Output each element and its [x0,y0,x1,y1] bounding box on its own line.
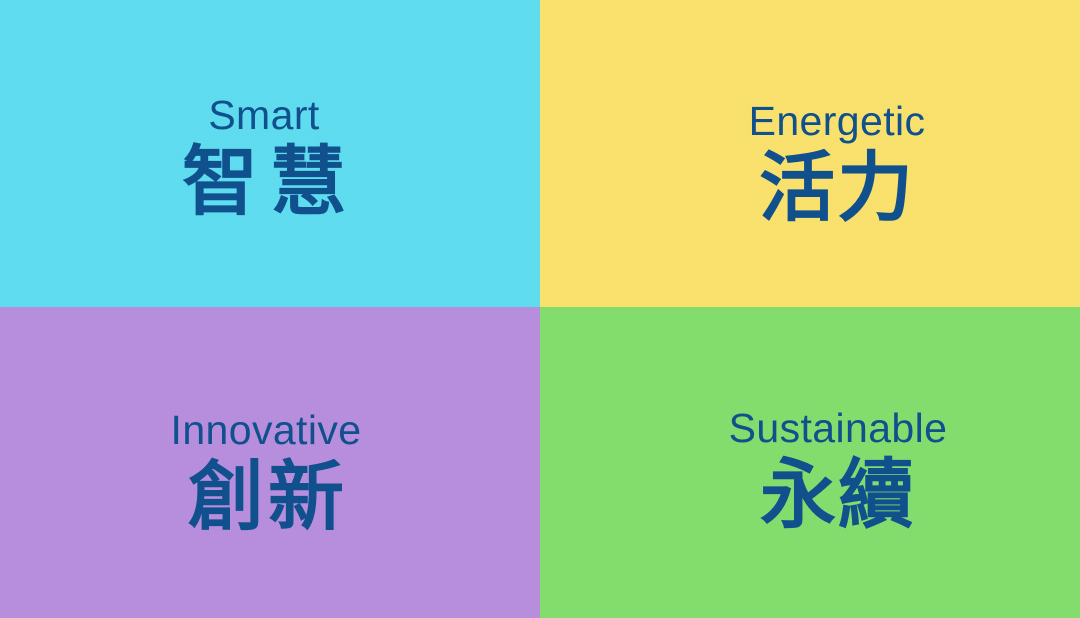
quadrant-smart-text: Smart 智慧 [0,94,534,224]
quadrant-sustainable-label-en: Sustainable [568,407,1080,450]
quadrant-energetic-label-zh: 活力 [567,145,1080,230]
quadrant-sustainable-label-zh: 永續 [568,452,1080,537]
quadrant-energetic-label-en: Energetic [567,100,1080,143]
quadrant-innovative-text: Innovative 創新 [0,409,536,539]
brand-values-grid: Smart 智慧 Energetic 活力 Innovative 創新 Sust… [0,0,1080,618]
quadrant-smart[interactable]: Smart 智慧 [0,0,540,307]
quadrant-innovative-label-en: Innovative [0,409,536,452]
quadrant-sustainable[interactable]: Sustainable 永續 [540,307,1080,618]
quadrant-energetic-text: Energetic 活力 [567,100,1080,230]
quadrant-innovative[interactable]: Innovative 創新 [0,307,540,618]
quadrant-sustainable-text: Sustainable 永續 [568,407,1080,537]
quadrant-energetic[interactable]: Energetic 活力 [540,0,1080,307]
quadrant-innovative-label-zh: 創新 [0,454,536,539]
quadrant-smart-label-en: Smart [0,94,534,137]
quadrant-smart-label-zh: 智慧 [0,139,534,224]
